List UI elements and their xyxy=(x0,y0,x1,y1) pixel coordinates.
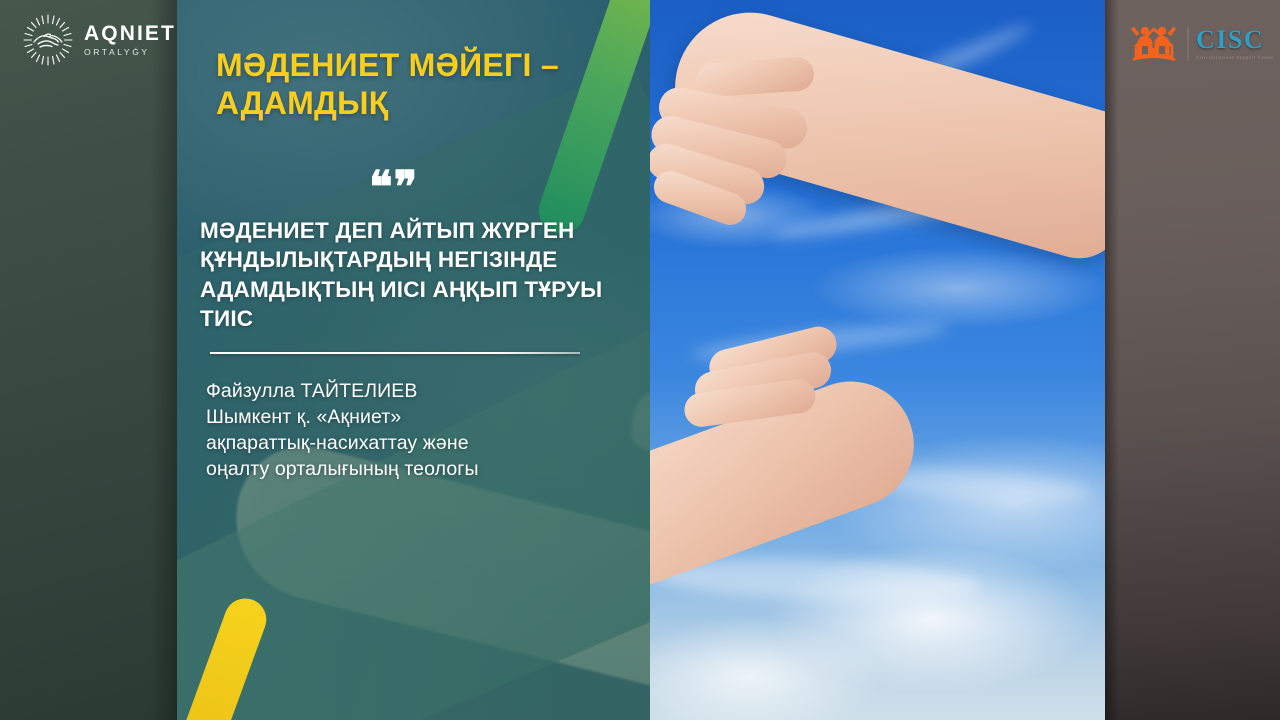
people-house-icon xyxy=(1128,24,1180,64)
cisc-logo[interactable]: CISC Civil Initiatives Support Center xyxy=(1128,24,1275,64)
cisc-subtitle: Civil Initiatives Support Center xyxy=(1196,56,1275,60)
aqniet-subtitle: ORTALYǴY xyxy=(84,48,176,57)
slide-title: МӘДЕНИЕТ МӘЙЕГІ – АДАМДЫҚ xyxy=(216,47,646,123)
attribution-text: Файзулла ТАЙТЕЛИЕВ Шымкент қ. «Ақниет» а… xyxy=(206,378,656,483)
cisc-divider xyxy=(1187,27,1189,61)
aqniet-name: AQNIET xyxy=(84,23,176,44)
aqniet-wordmark: AQNIET ORTALYǴY xyxy=(84,23,176,57)
left-rail xyxy=(0,0,177,720)
right-rail-shadow xyxy=(1105,0,1119,720)
cisc-name: CISC xyxy=(1196,27,1275,53)
slide-canvas: AQNIET ORTALYǴY МӘДЕНИЕТ МӘЙЕГІ – АДАМДЫ… xyxy=(0,0,1280,720)
quote-text: МӘДЕНИЕТ ДЕП АЙТЫП ЖҮРГЕН ҚҰНДЫЛЫҚТАРДЫҢ… xyxy=(200,216,640,334)
left-rail-shadow xyxy=(150,0,177,720)
right-rail xyxy=(1105,0,1280,720)
divider-line xyxy=(210,352,580,354)
cisc-wordmark: CISC Civil Initiatives Support Center xyxy=(1196,27,1275,60)
background-photo xyxy=(650,0,1105,720)
quote-mark-icon: ❝❞ xyxy=(369,166,418,210)
handshake-sunburst-icon xyxy=(22,14,74,66)
aqniet-logo[interactable]: AQNIET ORTALYǴY xyxy=(22,14,176,66)
